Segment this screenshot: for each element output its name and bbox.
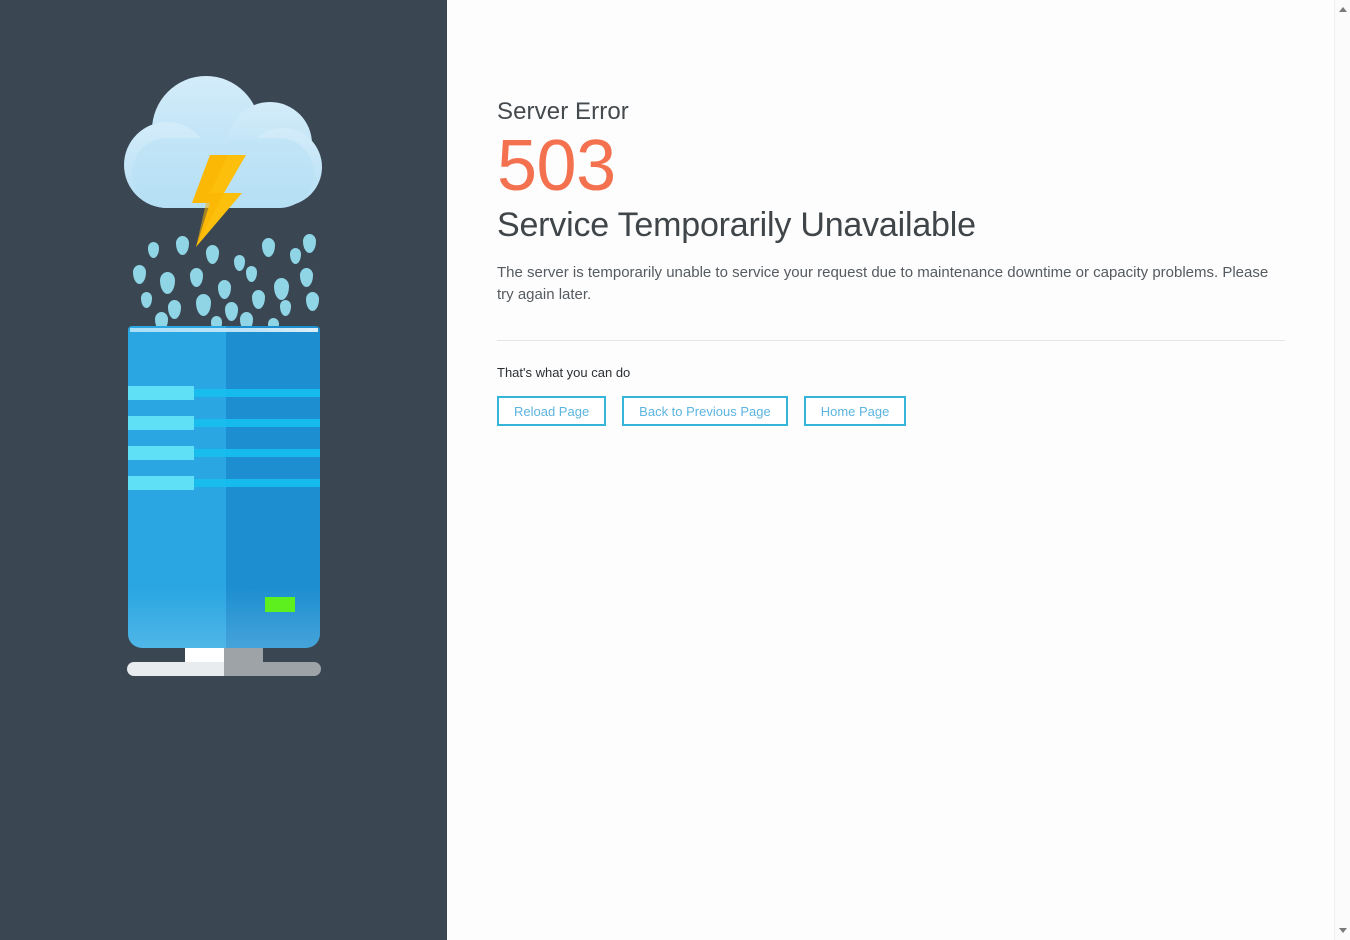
server-slot-line: [194, 389, 320, 397]
raindrop: [300, 268, 313, 287]
raindrop: [262, 238, 275, 257]
server-slot-tab: [128, 446, 194, 460]
server-slot-line: [194, 449, 320, 457]
server-slot-tab: [128, 386, 194, 400]
raindrop: [190, 268, 203, 287]
error-title: Service Temporarily Unavailable: [497, 205, 1287, 246]
illustration-stage: [0, 0, 447, 940]
server-slot-line: [194, 479, 320, 487]
error-content: Server Error 503 Service Temporarily Una…: [497, 0, 1287, 426]
illustration-panel: [0, 0, 447, 940]
server-tower-icon: [128, 326, 320, 648]
raindrop: [290, 248, 301, 264]
raindrop: [306, 292, 319, 311]
error-code: 503: [497, 130, 1287, 203]
raindrop: [234, 255, 245, 271]
server-slot-line: [194, 419, 320, 427]
raindrop: [148, 242, 159, 258]
raindrop: [133, 265, 146, 284]
raindrop: [160, 272, 175, 294]
home-page-button[interactable]: Home Page: [804, 396, 907, 426]
server-slot: [128, 476, 320, 490]
section-divider: [497, 340, 1285, 341]
reload-page-button[interactable]: Reload Page: [497, 396, 606, 426]
vertical-scrollbar[interactable]: [1334, 0, 1350, 940]
raindrop: [206, 245, 219, 264]
server-slot-tab: [128, 476, 194, 490]
server-body: [128, 326, 320, 648]
error-description: The server is temporarily unable to serv…: [497, 262, 1277, 306]
raindrop: [218, 280, 231, 299]
raindrop: [176, 236, 189, 255]
raindrop: [303, 234, 316, 253]
server-top-glint: [130, 328, 318, 332]
scrollbar-track[interactable]: [1335, 15, 1350, 925]
action-buttons-row: Reload PageBack to Previous PageHome Pag…: [497, 396, 1287, 426]
back-to-previous-page-button[interactable]: Back to Previous Page: [622, 396, 788, 426]
error-kicker: Server Error: [497, 0, 1287, 126]
raindrop: [225, 302, 238, 321]
raindrop: [280, 300, 291, 316]
raindrop: [168, 300, 181, 319]
server-slot: [128, 416, 320, 430]
server-stand-base: [127, 662, 321, 676]
raindrop: [196, 294, 211, 316]
content-panel: Server Error 503 Service Temporarily Una…: [447, 0, 1350, 940]
raindrop: [141, 292, 152, 308]
status-led-icon: [265, 597, 295, 612]
scroll-down-arrow-icon[interactable]: [1335, 923, 1350, 938]
server-slot: [128, 446, 320, 460]
raindrop: [246, 266, 257, 282]
error-page: Server Error 503 Service Temporarily Una…: [0, 0, 1350, 940]
server-slot-tab: [128, 416, 194, 430]
raindrop: [274, 278, 289, 300]
server-slot: [128, 386, 320, 400]
actions-helper-text: That's what you can do: [497, 365, 1287, 380]
raindrop: [252, 290, 265, 309]
lightning-bolt-icon: [180, 155, 250, 247]
